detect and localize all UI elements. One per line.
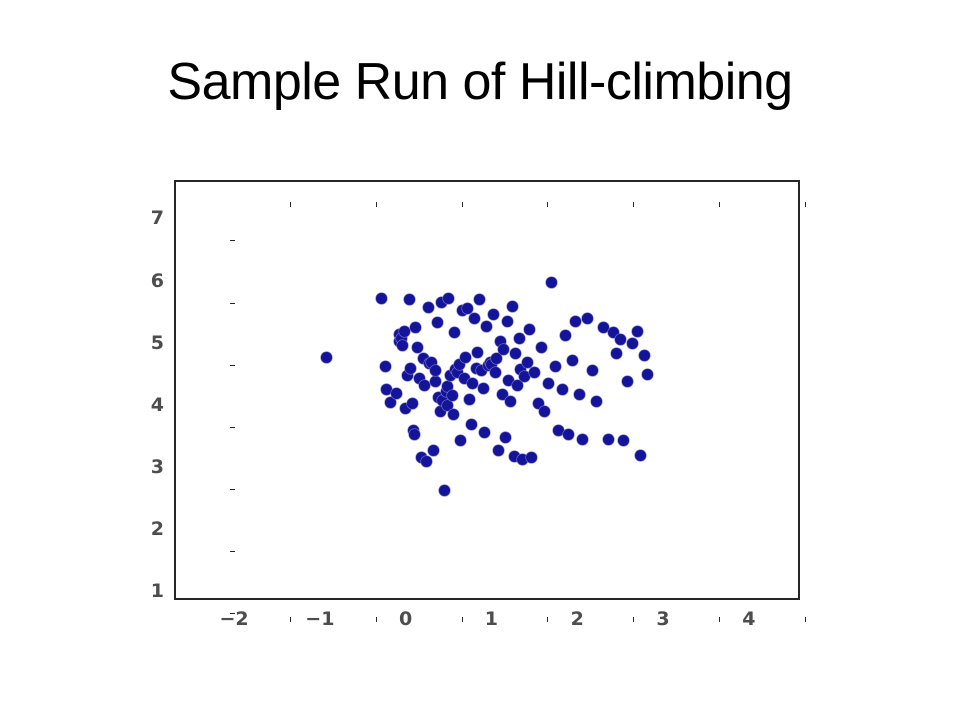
scatter-point [321,352,332,363]
scatter-point [447,390,458,401]
y-tick-label-1: 1 [151,580,164,602]
scatter-point [635,450,646,461]
scatter-point [615,334,626,345]
scatter-point [536,342,547,353]
page-title: Sample Run of Hill-climbing [0,54,960,111]
scatter-point [428,445,439,456]
scatter-point [502,316,513,327]
scatter-point [439,485,450,496]
scatter-point [627,338,638,349]
scatter-point [430,376,441,387]
x-tick-top-6 [805,202,806,207]
scatter-point [563,429,574,440]
scatter-point [603,434,614,445]
scatter-point [514,333,525,344]
scatter-point [397,340,408,351]
x-tick-label-−2: −2 [219,608,248,630]
scatter-point [587,365,598,376]
x-tick-label-4: 4 [742,608,755,630]
scatter-point [493,445,504,456]
scatter-point [591,396,602,407]
scatter-point [567,355,578,366]
scatter-point [524,324,535,335]
scatter-point [529,367,540,378]
scatter-point [391,388,402,399]
scatter-point [479,427,490,438]
scatter-point [376,293,387,304]
scatter-point [407,398,418,409]
scatter-point [467,378,478,389]
scatter-point [409,429,420,440]
y-tick-label-3: 3 [151,456,164,478]
plot-frame [174,180,800,600]
x-tick-label-−1: −1 [305,608,334,630]
scatter-point [639,350,650,361]
scatter-point [507,301,518,312]
scatter-point [539,406,550,417]
scatter-point [550,361,561,372]
scatter-point [412,342,423,353]
scatter-point [543,378,554,389]
scatter-point [570,316,581,327]
scatter-point [464,394,475,405]
x-tick-6 [805,617,806,622]
scatter-point [430,365,441,376]
x-axis-tick-labels: −2−101234 [174,600,800,640]
scatter-point [455,435,466,446]
scatter-point [582,313,593,324]
y-tick-label-2: 2 [151,518,164,540]
y-axis-tick-labels: 1234567 [120,180,174,600]
scatter-point [478,383,489,394]
scatter-point [449,327,460,338]
scatter-point [522,357,533,368]
scatter-point [557,384,568,395]
scatter-point [488,309,499,320]
scatter-points-layer [176,182,798,598]
y-tick-label-7: 7 [151,207,164,229]
scatter-plot-figure: 1234567 −2−101234 [120,160,840,660]
scatter-point [632,326,643,337]
y-tick-label-4: 4 [151,394,164,416]
scatter-point [405,363,416,374]
scatter-point [500,432,511,443]
scatter-point [546,277,557,288]
scatter-point [642,369,653,380]
y-tick-label-6: 6 [151,270,164,292]
x-tick-label-3: 3 [656,608,669,630]
scatter-point [490,367,501,378]
scatter-point [510,348,521,359]
scatter-point [380,361,391,372]
scatter-point [618,435,629,446]
scatter-point [474,294,485,305]
scatter-point [419,380,430,391]
scatter-point [577,434,588,445]
scatter-point [443,293,454,304]
x-tick-label-1: 1 [485,608,498,630]
scatter-point [560,330,571,341]
scatter-point [526,452,537,463]
scatter-point [505,396,516,407]
scatter-point [469,313,480,324]
scatter-point [611,348,622,359]
scatter-point [498,344,509,355]
scatter-point [399,326,410,337]
scatter-point [421,456,432,467]
x-tick-label-0: 0 [399,608,412,630]
scatter-point [622,376,633,387]
scatter-point [466,419,477,430]
scatter-point [481,321,492,332]
scatter-point [404,294,415,305]
x-tick-label-2: 2 [571,608,584,630]
scatter-point [432,317,443,328]
scatter-point [472,347,483,358]
scatter-point [460,352,471,363]
scatter-point [410,322,421,333]
scatter-point [448,409,459,420]
scatter-point [423,302,434,313]
scatter-point [574,389,585,400]
y-tick-label-5: 5 [151,332,164,354]
